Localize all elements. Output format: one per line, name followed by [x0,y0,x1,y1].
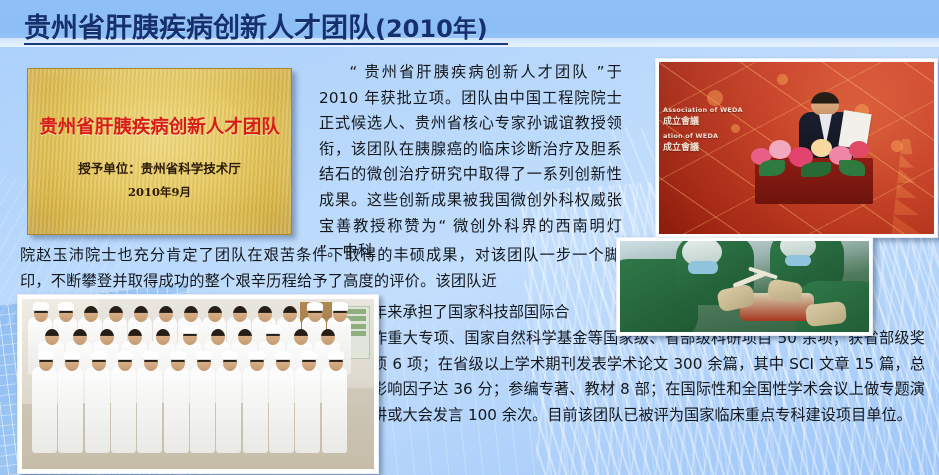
plaque-date: 2010年9月 [28,184,291,200]
nurse-cap [249,351,265,360]
podium-banner-text-en-2: ation of WEDA [663,132,718,140]
nurse-cap [38,351,54,360]
team-member [243,367,268,453]
nurse-cap [275,351,291,360]
award-plaque: 贵州省肝胰疾病创新人才团队 授予单位：贵州省科学技术厅 2010年9月 [27,68,292,235]
backdrop-dot [707,90,723,106]
nurse-cap [328,351,344,360]
team-member-head [109,306,123,322]
nurse-cap [307,302,323,311]
page-title-year: (2010年) [375,15,488,43]
body-paragraph-middle: 院赵玉沛院士也充分肯定了团队在艰苦条件下取得的丰硕成果，对该团队一步一个脚印，不… [20,243,620,294]
nurse-cap [58,302,74,311]
slide-canvas: 贵州省肝胰疾病创新人才团队(2010年) 贵州省肝胰疾病创新人才团队 授予单位：… [0,0,939,475]
nurse-cap [117,351,133,360]
nurse-cap [182,325,198,334]
team-member [85,367,110,453]
title-underline [24,43,508,45]
plaque-issuer: 授予单位：贵州省科学技术厅 [28,158,291,177]
nurse-cap [265,325,281,334]
team-member-head [294,329,308,345]
nurse-cap [196,351,212,360]
podium-banner-text-en-1: Association of WEDA [663,106,743,114]
team-member [322,367,347,453]
nurse-cap [64,351,80,360]
team-member [58,367,83,453]
page-title-main: 贵州省肝胰疾病创新人才团队 [24,13,375,44]
surgeon-mask [688,261,718,274]
team-member-head [73,329,87,345]
body-paragraph-top: “ 贵州省肝胰疾病创新人才团队 ”于 2010 年获批立项。团队由中国工程院院士… [319,60,622,265]
surgeon-mask [785,255,811,266]
team-member-head [134,306,148,322]
team-member [269,367,294,453]
nurse-cap [332,302,348,311]
photo-surgery-operation [616,237,873,336]
team-member-head [184,306,198,322]
page-title: 贵州省肝胰疾病创新人才团队(2010年) [24,6,488,45]
photo-team-group [17,294,379,474]
nurse-cap [222,351,238,360]
team-member-head [84,306,98,322]
team-member [111,367,136,453]
team-member [164,367,189,453]
nurse-cap [33,302,49,311]
gloved-hand [805,301,847,327]
body-paragraph-bottom-a: 年来承担了国家科技部国际合 [372,300,612,326]
team-member-head [159,306,173,322]
nurse-cap [91,351,107,360]
podium-flower-arrangement [745,134,877,176]
body-paragraph-bottom-b: 作重大专项、国家自然科学基金等国家级、省部级科研项目 50 余项；获省部级奖项 … [372,326,925,428]
nurse-cap [301,351,317,360]
speaker-head [811,92,839,116]
team-member [216,367,241,453]
team-member [295,367,320,453]
backdrop-dot [731,124,740,133]
team-member-head [45,329,59,345]
team-member-head [128,329,142,345]
team-member [32,367,57,453]
podium-banner-text-cn-1: 成立會議 [663,114,699,127]
team-member [190,367,215,453]
team-member [137,367,162,453]
photo-conference-podium: Association of WEDA 成立會議 ation of WEDA 成… [655,58,938,238]
podium-banner-text-cn-2: 成立會議 [663,140,699,153]
nurse-cap [143,351,159,360]
nurse-cap [170,351,186,360]
plaque-award-title: 贵州省肝胰疾病创新人才团队 [28,113,291,139]
team-member-head [156,329,170,345]
backdrop-dot [777,74,788,85]
team-member-head [211,329,225,345]
